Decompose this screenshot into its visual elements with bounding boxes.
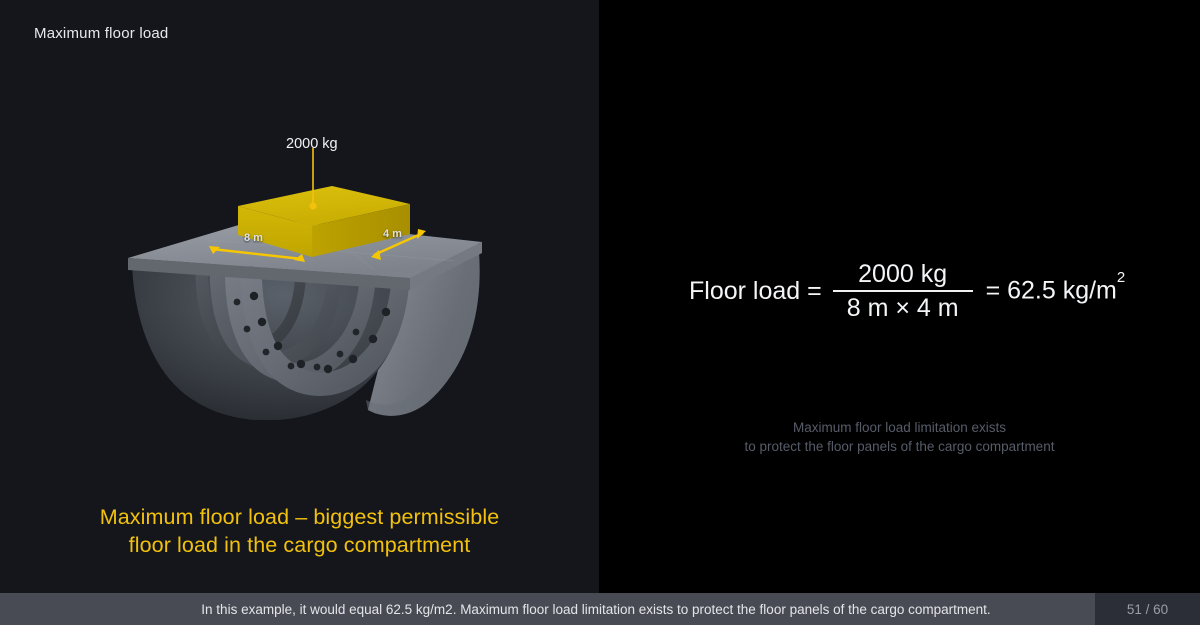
formula-numerator: 2000 kg (844, 258, 961, 290)
left-panel: Maximum floor load (0, 0, 599, 593)
caption-subtitle-text: In this example, it would equal 62.5 kg/… (0, 602, 1095, 617)
cargo-compartment-illustration (110, 130, 510, 420)
fuselage-3d-svg (110, 130, 510, 420)
caption-bar: In this example, it would equal 62.5 kg/… (0, 593, 1200, 625)
dimension-label-width: 4 m (383, 228, 402, 240)
explanatory-note: Maximum floor load limitation exists to … (599, 418, 1200, 456)
slide-root: Maximum floor load (0, 0, 1200, 625)
formula-result-exponent: 2 (1117, 269, 1125, 286)
definition-line-1: Maximum floor load – biggest permissible (0, 503, 599, 531)
formula-result: = 62.5 kg/m2 (975, 276, 1126, 305)
formula-result-value: = 62.5 kg/m (986, 277, 1117, 305)
definition-text: Maximum floor load – biggest permissible… (0, 503, 599, 559)
note-line-1: Maximum floor load limitation exists (599, 418, 1200, 437)
definition-line-2: floor load in the cargo compartment (0, 531, 599, 559)
right-panel: Floor load = 2000 kg 8 m × 4 m = 62.5 kg… (599, 0, 1200, 593)
dimension-label-length: 8 m (244, 232, 263, 244)
load-weight-label: 2000 kg (286, 136, 338, 152)
floor-load-formula: Floor load = 2000 kg 8 m × 4 m = 62.5 kg… (689, 258, 1125, 324)
formula-fraction: 2000 kg 8 m × 4 m (831, 258, 975, 324)
page-title: Maximum floor load (34, 25, 168, 42)
formula-denominator: 8 m × 4 m (833, 292, 973, 324)
page-counter: 51 / 60 (1095, 593, 1200, 625)
note-line-2: to protect the floor panels of the cargo… (599, 437, 1200, 456)
formula-left-side: Floor load = (689, 277, 831, 306)
